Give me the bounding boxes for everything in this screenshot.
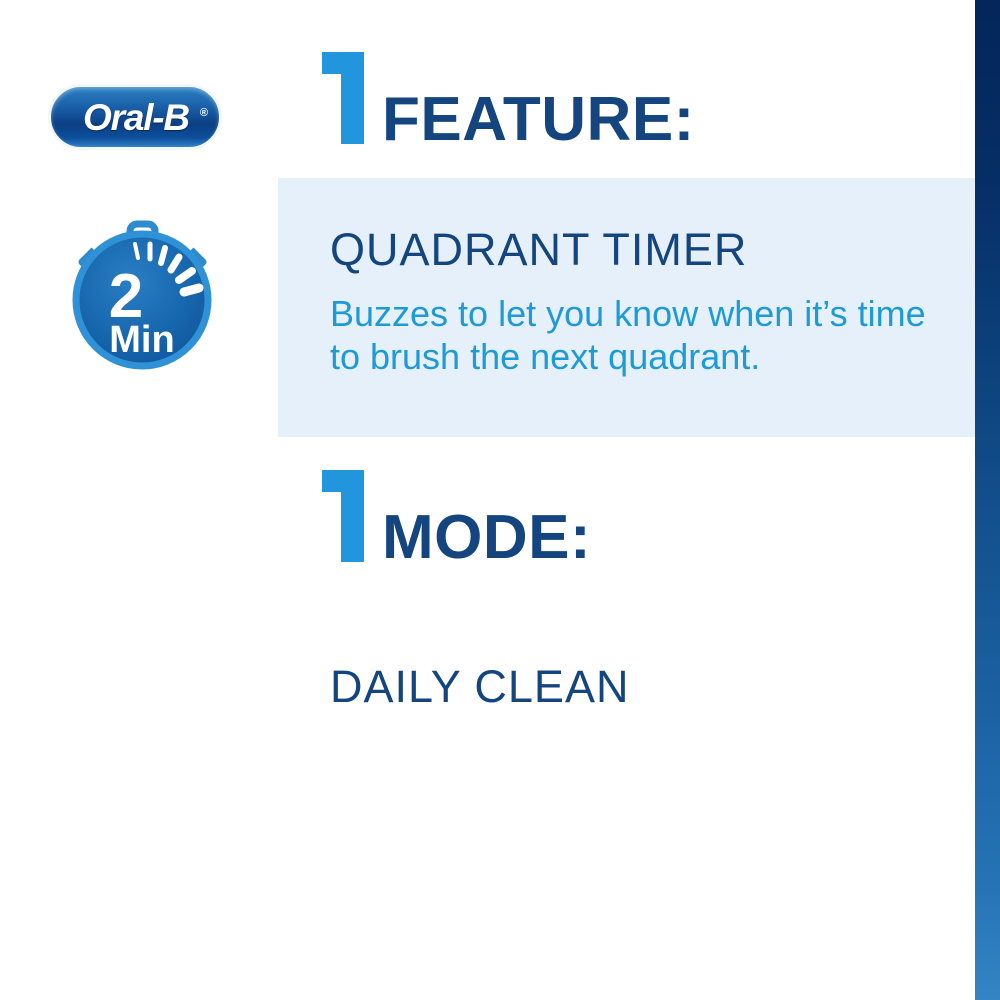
mode-kicker-label: MODE: xyxy=(382,507,591,569)
numeral-one-glyph xyxy=(322,52,368,144)
oral-b-logo-text: Oral-B xyxy=(81,99,189,136)
brand-side-panel xyxy=(0,0,278,1000)
feature-title: QUADRANT TIMER xyxy=(330,226,747,273)
mode-heading-row: MODE: xyxy=(322,470,591,574)
feature-heading-row: FEATURE: xyxy=(322,52,695,156)
mode-title: DAILY CLEAN xyxy=(330,663,629,710)
registered-trademark-icon: ® xyxy=(200,107,208,119)
right-accent-strip xyxy=(975,0,1000,1000)
oral-b-logo: Oral-B ® xyxy=(48,84,222,150)
calendar-check-icon xyxy=(80,628,208,773)
numeral-one-stem xyxy=(341,470,364,562)
stopwatch-minutes-unit: Min xyxy=(109,319,174,361)
stopwatch-icon: 2 Min xyxy=(60,210,225,380)
product-feature-infographic: Oral-B ® xyxy=(0,0,1000,1000)
numeral-one-stem xyxy=(341,52,364,144)
numeral-one-glyph xyxy=(322,470,368,562)
feature-description: Buzzes to let you know when it’s time to… xyxy=(330,292,930,378)
oral-b-logo-inner: Oral-B ® xyxy=(51,87,219,147)
feature-count xyxy=(322,52,368,156)
feature-kicker-label: FEATURE: xyxy=(382,89,695,151)
mode-count xyxy=(322,470,368,574)
